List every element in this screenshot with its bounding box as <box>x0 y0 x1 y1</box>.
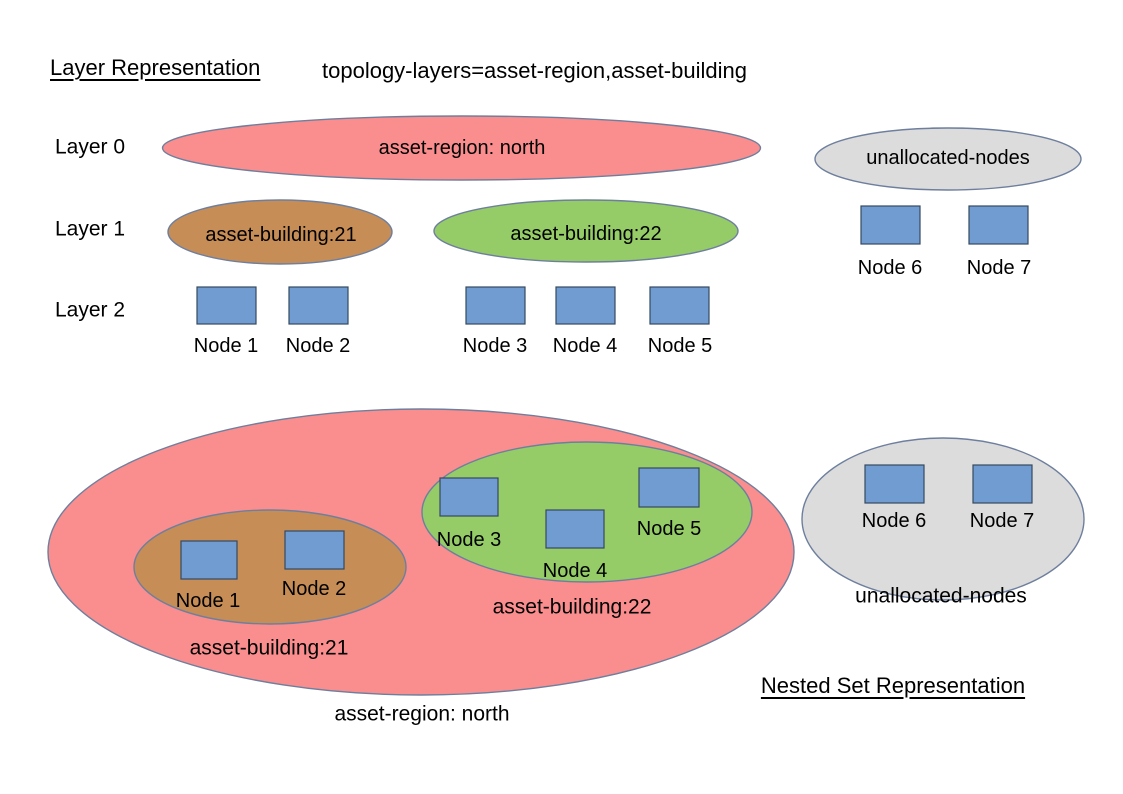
layer2-node-4-rect[interactable] <box>556 287 615 324</box>
layer0-region-label: asset-region: north <box>379 138 546 158</box>
topology-layers-caption: topology-layers=asset-region,asset-build… <box>322 60 747 82</box>
nested-node-4-rect[interactable] <box>546 510 604 548</box>
layer-tag-2: Layer 2 <box>55 300 125 321</box>
nested-region-label: asset-region: north <box>334 704 509 725</box>
layer2-node-2-label: Node 2 <box>286 336 351 356</box>
nested-node-2-rect[interactable] <box>285 531 344 569</box>
nested-unallocated-ellipse[interactable] <box>802 438 1084 600</box>
nested-node-7-label: Node 7 <box>970 511 1035 531</box>
layer-tag-1: Layer 1 <box>55 219 125 240</box>
layer1-building22-label: asset-building:22 <box>510 224 661 244</box>
layer2-node-1-rect[interactable] <box>197 287 256 324</box>
nested-node-7-rect[interactable] <box>973 465 1032 503</box>
layer2-node-4-label: Node 4 <box>553 336 618 356</box>
layer2-node-2-rect[interactable] <box>289 287 348 324</box>
layer2-node-3-label: Node 3 <box>463 336 528 356</box>
nested-node-5-label: Node 5 <box>637 519 702 539</box>
nested-node-3-label: Node 3 <box>437 530 502 550</box>
nested-set-representation-title: Nested Set Representation <box>761 675 1025 697</box>
nested-node-4-label: Node 4 <box>543 561 608 581</box>
nested-node-3-rect[interactable] <box>440 478 498 516</box>
nested-node-6-rect[interactable] <box>865 465 924 503</box>
layer2-node-5-label: Node 5 <box>648 336 713 356</box>
layer-unallocated-node-7-rect[interactable] <box>969 206 1028 244</box>
nested-node-2-label: Node 2 <box>282 579 347 599</box>
layer1-building21-label: asset-building:21 <box>205 225 356 245</box>
layer2-node-1-label: Node 1 <box>194 336 259 356</box>
nested-node-1-rect[interactable] <box>181 541 237 579</box>
diagram-canvas: Layer Representation topology-layers=ass… <box>0 0 1123 794</box>
nested-node-5-rect[interactable] <box>639 468 699 507</box>
nested-node-1-label: Node 1 <box>176 591 241 611</box>
layer-unallocated-node-6-rect[interactable] <box>861 206 920 244</box>
layer-unallocated-node-6-label: Node 6 <box>858 258 923 278</box>
nested-unallocated-label: unallocated-nodes <box>855 586 1027 607</box>
layer-tag-0: Layer 0 <box>55 137 125 158</box>
layer0-unallocated-label: unallocated-nodes <box>866 148 1029 168</box>
nested-node-6-label: Node 6 <box>862 511 927 531</box>
layer2-node-3-rect[interactable] <box>466 287 525 324</box>
layer-unallocated-node-7-label: Node 7 <box>967 258 1032 278</box>
layer2-node-5-rect[interactable] <box>650 287 709 324</box>
layer-representation-title: Layer Representation <box>50 57 260 79</box>
nested-building22-label: asset-building:22 <box>493 597 652 618</box>
nested-building21-label: asset-building:21 <box>190 638 349 659</box>
